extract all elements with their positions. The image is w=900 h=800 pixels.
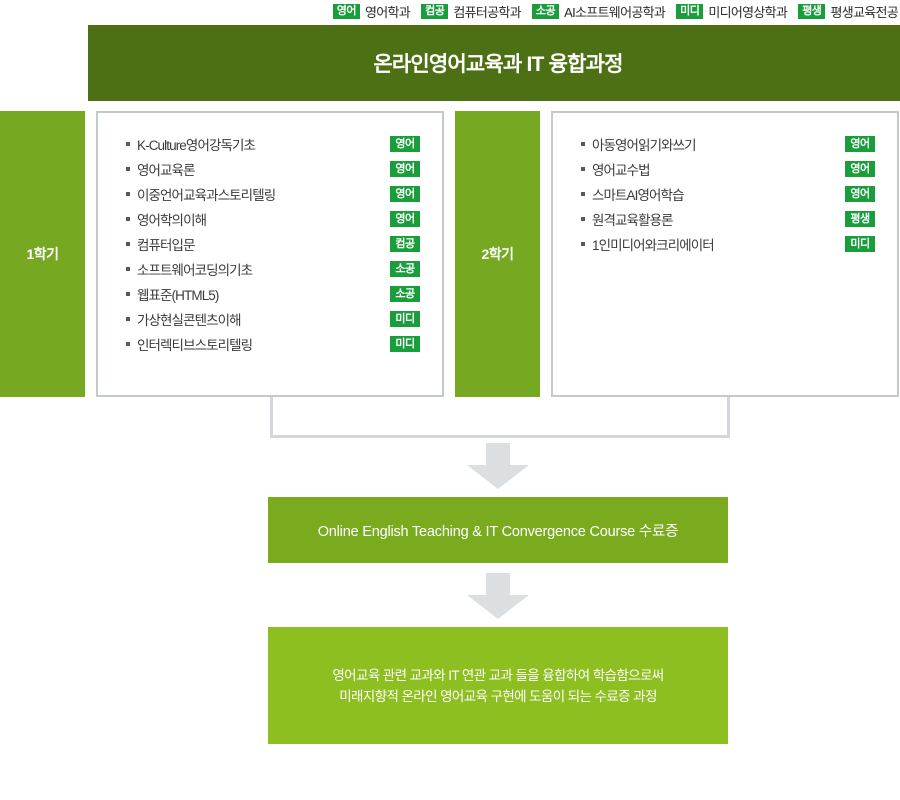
course-row: 영어교수법영어 bbox=[581, 156, 875, 181]
bullet-icon bbox=[581, 217, 585, 221]
course-title-banner: 온라인영어교육과 IT 융합과정 bbox=[88, 25, 900, 101]
bullet-icon bbox=[126, 267, 130, 271]
course-row: 이중언어교육과스토리텔링영어 bbox=[126, 181, 420, 206]
course-department-badge: 평생 bbox=[845, 211, 875, 227]
course-department-badge: 영어 bbox=[845, 136, 875, 152]
bullet-icon bbox=[126, 142, 130, 146]
course-name: 영어학의이해 bbox=[137, 209, 390, 229]
legend-item: 영어영어학과 bbox=[333, 2, 410, 21]
bullet-icon bbox=[126, 242, 130, 246]
course-department-badge: 영어 bbox=[390, 186, 420, 202]
course-row: 영어학의이해영어 bbox=[126, 206, 420, 231]
bullet-icon bbox=[126, 167, 130, 171]
description-line-2: 미래지향적 온라인 영어교육 구현에 도움이 되는 수료증 과정 bbox=[332, 686, 663, 707]
course-name: 가상현실콘텐츠이해 bbox=[137, 309, 390, 329]
course-row: K-Culture영어강독기초영어 bbox=[126, 131, 420, 156]
course-row: 아동영어읽기와쓰기영어 bbox=[581, 131, 875, 156]
course-department-badge: 소공 bbox=[390, 261, 420, 277]
semester-2-label-text: 2학기 bbox=[481, 244, 513, 264]
legend-tag-badge: 영어 bbox=[333, 4, 360, 19]
course-name: 컴퓨터입문 bbox=[137, 234, 390, 254]
course-row: 웹표준(HTML5)소공 bbox=[126, 281, 420, 306]
semester-1-label-text: 1학기 bbox=[26, 244, 58, 264]
course-row: 컴퓨터입문컴공 bbox=[126, 231, 420, 256]
course-department-badge: 미디 bbox=[390, 336, 420, 352]
course-department-badge: 미디 bbox=[390, 311, 420, 327]
department-legend: 영어영어학과컴공컴퓨터공학과소공AI소프트웨어공학과미디미디어영상학과평생평생교… bbox=[0, 0, 900, 22]
course-name: 스마트AI영어학습 bbox=[592, 184, 845, 204]
course-row: 가상현실콘텐츠이해미디 bbox=[126, 306, 420, 331]
bullet-icon bbox=[126, 217, 130, 221]
course-name: 아동영어읽기와쓰기 bbox=[592, 134, 845, 154]
legend-tag-badge: 컴공 bbox=[421, 4, 448, 19]
legend-tag-badge: 소공 bbox=[532, 4, 559, 19]
flow-arrow-down-icon-2 bbox=[467, 573, 529, 619]
course-row: 인터렉티브스토리텔링미디 bbox=[126, 331, 420, 356]
course-department-badge: 미디 bbox=[845, 236, 875, 252]
course-department-badge: 컴공 bbox=[390, 236, 420, 252]
course-department-badge: 영어 bbox=[390, 211, 420, 227]
bullet-icon bbox=[126, 292, 130, 296]
page-title: 온라인영어교육과 IT 융합과정 bbox=[373, 48, 622, 78]
course-name: 영어교수법 bbox=[592, 159, 845, 179]
course-name: K-Culture영어강독기초 bbox=[137, 134, 390, 154]
bullet-icon bbox=[581, 242, 585, 246]
course-row: 스마트AI영어학습영어 bbox=[581, 181, 875, 206]
semester-merge-connector bbox=[270, 397, 730, 438]
legend-department-name: 컴퓨터공학과 bbox=[453, 2, 521, 21]
course-name: 원격교육활용론 bbox=[592, 209, 845, 229]
legend-department-name: AI소프트웨어공학과 bbox=[564, 2, 665, 21]
course-row: 소프트웨어코딩의기초소공 bbox=[126, 256, 420, 281]
semester-1-course-list: K-Culture영어강독기초영어영어교육론영어이중언어교육과스토리텔링영어영어… bbox=[96, 111, 444, 397]
bullet-icon bbox=[126, 317, 130, 321]
bullet-icon bbox=[581, 167, 585, 171]
course-department-badge: 영어 bbox=[845, 161, 875, 177]
certificate-result-box: Online English Teaching & IT Convergence… bbox=[268, 497, 728, 563]
legend-tag-badge: 평생 bbox=[798, 4, 825, 19]
legend-tag-badge: 미디 bbox=[676, 4, 703, 19]
course-department-badge: 소공 bbox=[390, 286, 420, 302]
course-row: 원격교육활용론평생 bbox=[581, 206, 875, 231]
course-department-badge: 영어 bbox=[390, 136, 420, 152]
legend-department-name: 영어학과 bbox=[365, 2, 410, 21]
legend-item: 평생평생교육전공 bbox=[798, 2, 898, 21]
course-department-badge: 영어 bbox=[390, 161, 420, 177]
bullet-icon bbox=[581, 192, 585, 196]
legend-item: 컴공컴퓨터공학과 bbox=[421, 2, 521, 21]
flow-arrow-down-icon-1 bbox=[467, 443, 529, 489]
legend-item: 소공AI소프트웨어공학과 bbox=[532, 2, 665, 21]
semester-2-label: 2학기 bbox=[455, 111, 540, 397]
course-name: 이중언어교육과스토리텔링 bbox=[137, 184, 390, 204]
course-department-badge: 영어 bbox=[845, 186, 875, 202]
bullet-icon bbox=[581, 142, 585, 146]
legend-department-name: 평생교육전공 bbox=[830, 2, 898, 21]
semester-1-label: 1학기 bbox=[0, 111, 85, 397]
bullet-icon bbox=[126, 342, 130, 346]
course-row: 영어교육론영어 bbox=[126, 156, 420, 181]
program-description-box: 영어교육 관련 교과와 IT 연관 교과 들을 융합하여 학습함으로써 미래지향… bbox=[268, 627, 728, 744]
course-name: 영어교육론 bbox=[137, 159, 390, 179]
course-name: 1인미디어와크리에이터 bbox=[592, 234, 845, 254]
bullet-icon bbox=[126, 192, 130, 196]
legend-item: 미디미디어영상학과 bbox=[676, 2, 787, 21]
description-line-1: 영어교육 관련 교과와 IT 연관 교과 들을 융합하여 학습함으로써 bbox=[332, 665, 663, 686]
course-row: 1인미디어와크리에이터미디 bbox=[581, 231, 875, 256]
course-name: 웹표준(HTML5) bbox=[137, 284, 390, 304]
course-name: 인터렉티브스토리텔링 bbox=[137, 334, 390, 354]
semester-2-course-list: 아동영어읽기와쓰기영어영어교수법영어스마트AI영어학습영어원격교육활용론평생1인… bbox=[551, 111, 899, 397]
certificate-label: Online English Teaching & IT Convergence… bbox=[318, 520, 679, 541]
course-name: 소프트웨어코딩의기초 bbox=[137, 259, 390, 279]
legend-department-name: 미디어영상학과 bbox=[708, 2, 787, 21]
